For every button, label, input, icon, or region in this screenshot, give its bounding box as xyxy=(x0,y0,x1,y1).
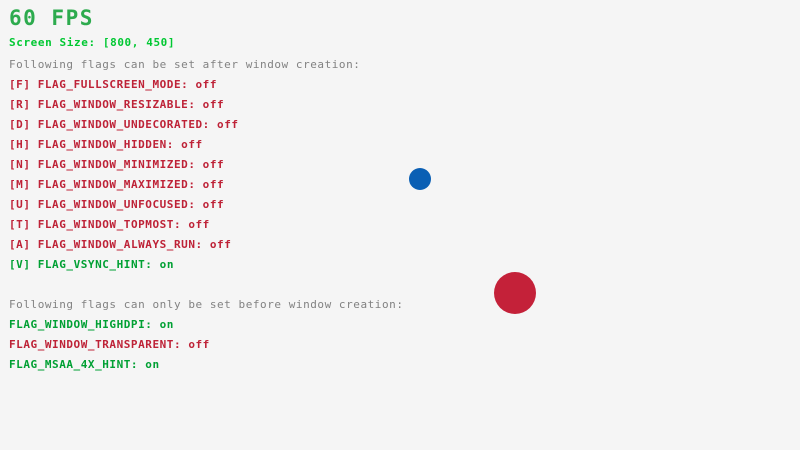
flag-key: [R] xyxy=(9,98,31,111)
flag-name: FLAG_WINDOW_TOPMOST: xyxy=(31,218,182,231)
flag-name: FLAG_WINDOW_ALWAYS_RUN: xyxy=(31,238,203,251)
flag-name: FLAG_WINDOW_UNFOCUSED: xyxy=(31,198,196,211)
flag-row[interactable]: [T] FLAG_WINDOW_TOPMOST: off xyxy=(9,218,210,231)
flag-row[interactable]: [D] FLAG_WINDOW_UNDECORATED: off xyxy=(9,118,239,131)
flag-key: [H] xyxy=(9,138,31,151)
flag-row[interactable]: [F] FLAG_FULLSCREEN_MODE: off xyxy=(9,78,217,91)
flag-name: FLAG_MSAA_4X_HINT: xyxy=(9,358,138,371)
flag-value: off xyxy=(181,338,210,351)
flag-name: FLAG_WINDOW_MINIMIZED: xyxy=(31,158,196,171)
red-ball[interactable] xyxy=(494,272,536,314)
flag-name: FLAG_WINDOW_UNDECORATED: xyxy=(31,118,210,131)
raylib-window-canvas: 60 FPS Screen Size: [800, 450] Following… xyxy=(0,0,800,450)
flag-row[interactable]: [A] FLAG_WINDOW_ALWAYS_RUN: off xyxy=(9,238,231,251)
flag-key: [N] xyxy=(9,158,31,171)
flag-name: FLAG_WINDOW_TRANSPARENT: xyxy=(9,338,181,351)
flag-row[interactable]: [H] FLAG_WINDOW_HIDDEN: off xyxy=(9,138,203,151)
flag-row: FLAG_WINDOW_TRANSPARENT: off xyxy=(9,338,210,351)
flag-value: off xyxy=(196,178,225,191)
flag-value: off xyxy=(196,98,225,111)
flag-key: [U] xyxy=(9,198,31,211)
flag-value: off xyxy=(181,218,210,231)
flag-value: off xyxy=(174,138,203,151)
flag-value: off xyxy=(203,238,232,251)
flag-row: FLAG_MSAA_4X_HINT: on xyxy=(9,358,160,371)
flag-key: [A] xyxy=(9,238,31,251)
flag-row[interactable]: [R] FLAG_WINDOW_RESIZABLE: off xyxy=(9,98,224,111)
flag-key: [M] xyxy=(9,178,31,191)
fps-counter: 60 FPS xyxy=(9,6,94,30)
flag-row[interactable]: [M] FLAG_WINDOW_MAXIMIZED: off xyxy=(9,178,224,191)
creation-flags-heading: Following flags can only be set before w… xyxy=(9,298,404,311)
flag-name: FLAG_WINDOW_MAXIMIZED: xyxy=(31,178,196,191)
flag-row[interactable]: [V] FLAG_VSYNC_HINT: on xyxy=(9,258,174,271)
flag-row: FLAG_WINDOW_HIGHDPI: on xyxy=(9,318,174,331)
flag-key: [V] xyxy=(9,258,31,271)
flag-value: on xyxy=(152,258,174,271)
flag-name: FLAG_VSYNC_HINT: xyxy=(31,258,153,271)
flag-row[interactable]: [U] FLAG_WINDOW_UNFOCUSED: off xyxy=(9,198,224,211)
flag-name: FLAG_WINDOW_RESIZABLE: xyxy=(31,98,196,111)
blue-ball[interactable] xyxy=(409,168,431,190)
flag-key: [T] xyxy=(9,218,31,231)
flag-value: on xyxy=(138,358,160,371)
flag-name: FLAG_WINDOW_HIGHDPI: xyxy=(9,318,152,331)
flag-value: off xyxy=(196,158,225,171)
screen-size-label: Screen Size: [800, 450] xyxy=(9,36,175,49)
flag-name: FLAG_FULLSCREEN_MODE: xyxy=(31,78,189,91)
flag-value: on xyxy=(152,318,174,331)
runtime-flags-heading: Following flags can be set after window … xyxy=(9,58,360,71)
flag-name: FLAG_WINDOW_HIDDEN: xyxy=(31,138,174,151)
flag-key: [D] xyxy=(9,118,31,131)
flag-key: [F] xyxy=(9,78,31,91)
flag-value: off xyxy=(210,118,239,131)
flag-value: off xyxy=(188,78,217,91)
flag-row[interactable]: [N] FLAG_WINDOW_MINIMIZED: off xyxy=(9,158,224,171)
flag-value: off xyxy=(196,198,225,211)
